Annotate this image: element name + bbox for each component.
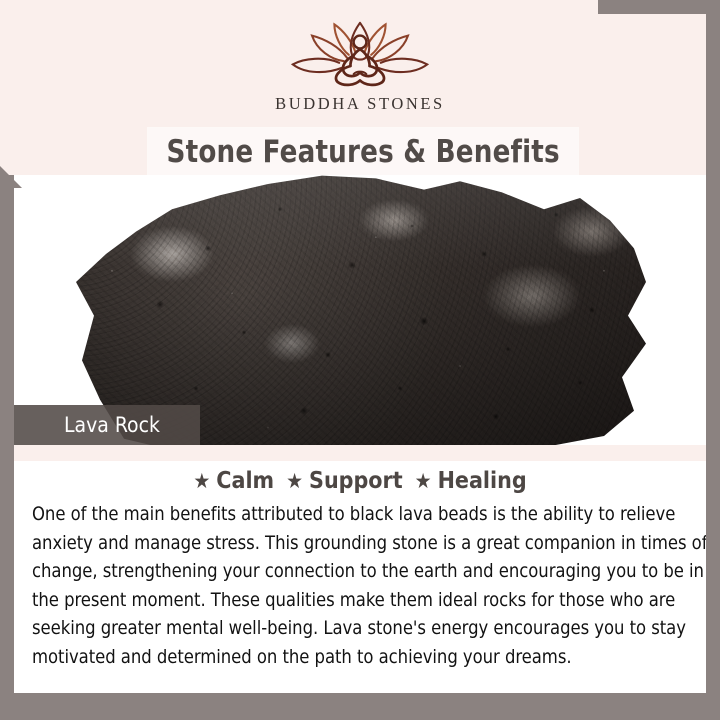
frame-bottom [0,693,720,720]
lotus-meditation-icon [280,18,440,90]
frame-right [706,0,720,720]
star-icon: ★ [286,471,303,492]
benefit-label: Support [309,468,403,494]
brand-name: BUDDHA STONES [275,94,445,114]
benefits-row: ★ Calm ★ Support ★ Healing [14,468,706,494]
star-icon: ★ [193,471,210,492]
body-panel: ★ Calm ★ Support ★ Healing One of the ma… [14,461,706,693]
benefit-item-healing: ★ Healing [415,468,527,494]
title-banner: Stone Features & Benefits [148,128,578,176]
benefit-item-calm: ★ Calm [193,468,274,494]
benefit-item-support: ★ Support [286,468,403,494]
photo-caption-bar: Lava Rock [14,405,200,445]
star-icon: ★ [415,471,432,492]
photo-caption-label: Lava Rock [64,413,160,437]
stone-features-infographic: BUDDHA STONES Stone Features & Benefits … [0,0,720,720]
brand-logo: BUDDHA STONES [0,18,720,114]
benefit-label: Calm [216,468,274,494]
page-title: Stone Features & Benefits [166,134,559,170]
divider-strip [14,445,706,461]
body-paragraph: One of the main benefits attributed to b… [32,501,712,673]
frame-left [0,175,14,720]
benefit-label: Healing [438,468,527,494]
